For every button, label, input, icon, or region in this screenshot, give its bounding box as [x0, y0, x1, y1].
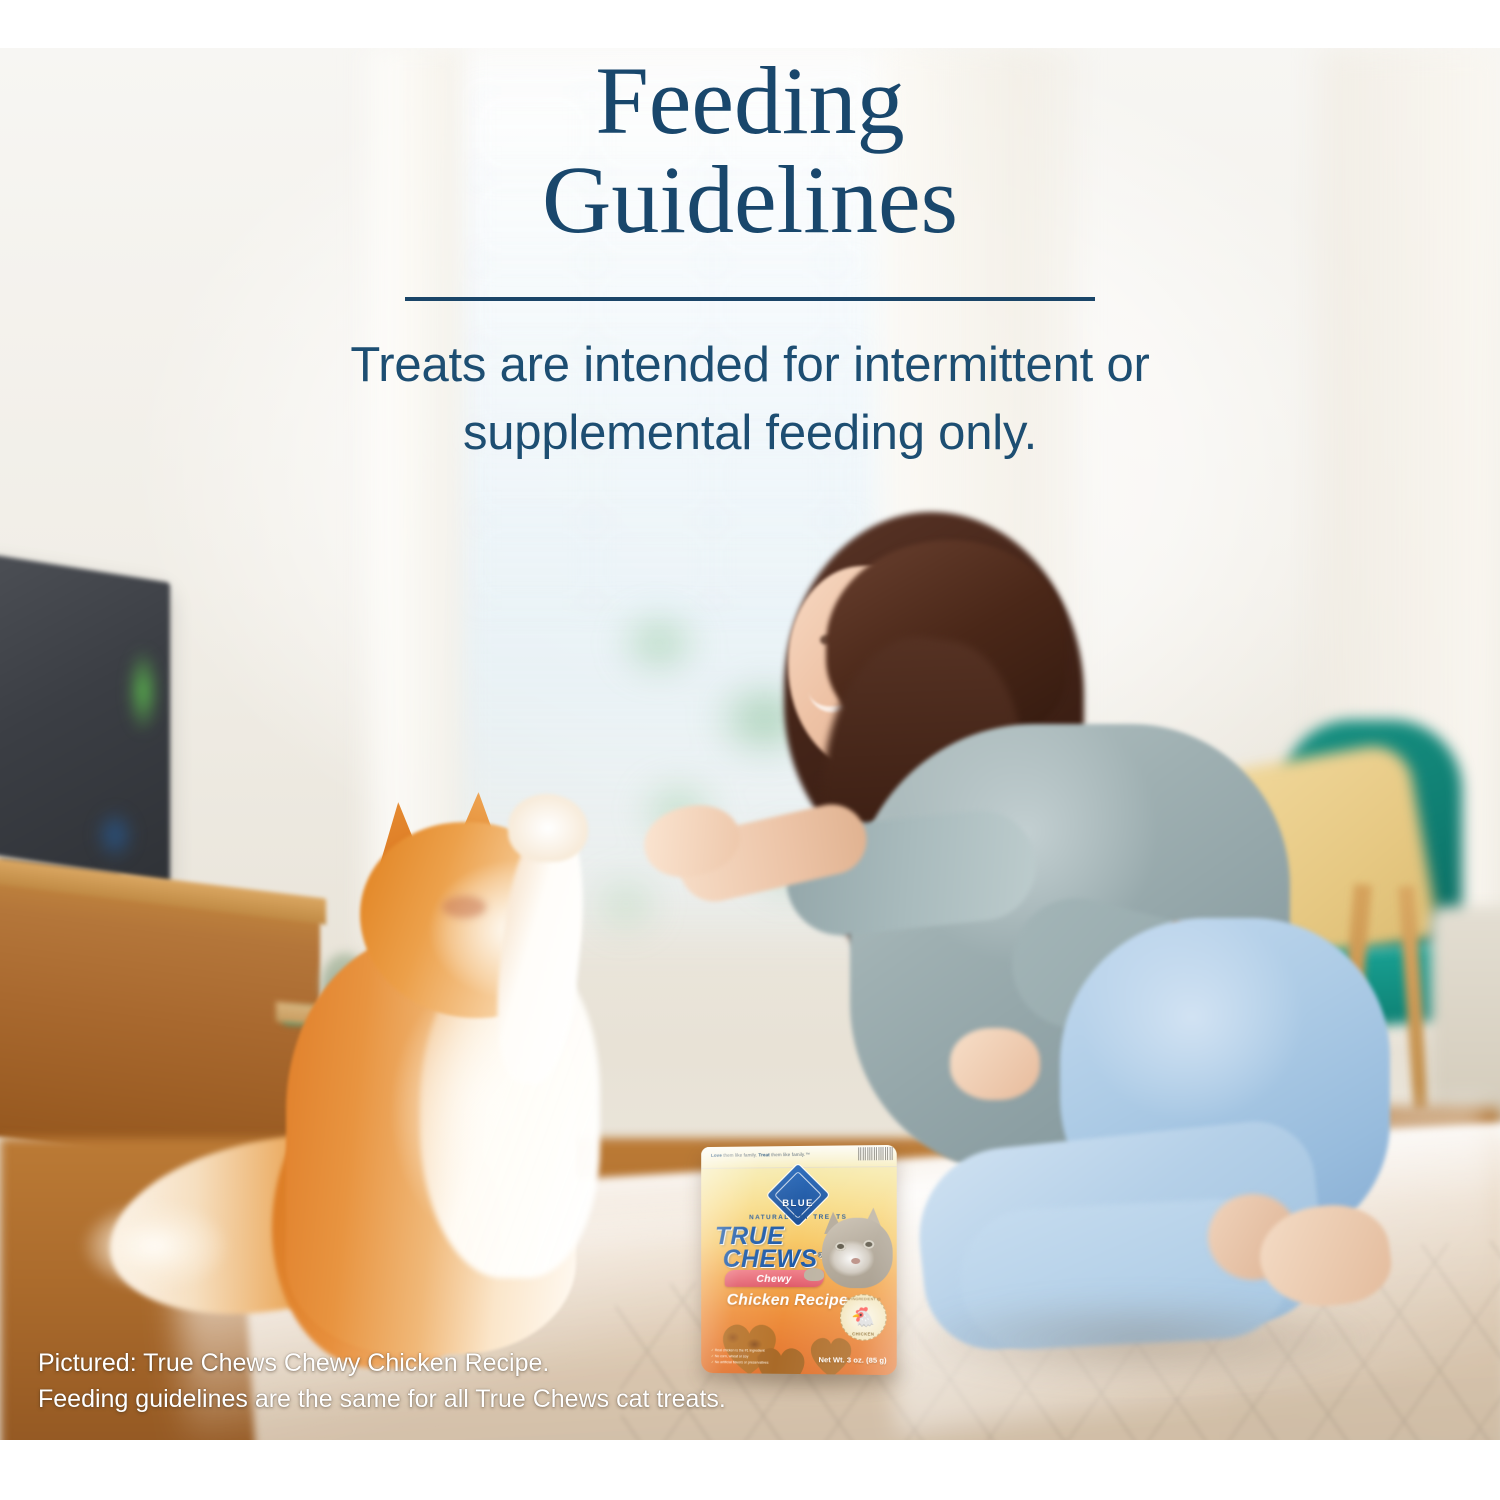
package-cat-paw: [804, 1268, 824, 1281]
caption-line-2: Feeding guidelines are the same for all …: [38, 1382, 726, 1418]
subtitle-line-1: Treats are intended for intermittent or: [150, 332, 1350, 400]
heart-window-small: [806, 1332, 856, 1375]
flavor-name: Chicken Recipe: [713, 1292, 862, 1311]
tv-screen-green-glow: [128, 648, 158, 734]
title-divider: [405, 297, 1095, 301]
product-package: Love them like family. Treat them like f…: [701, 1145, 897, 1375]
package-cat-eye-right: [863, 1240, 874, 1249]
cat-muzzle: [442, 896, 486, 918]
page-title: Feeding Guidelines: [0, 52, 1500, 250]
tagline-treat: Treat: [758, 1152, 769, 1157]
package-cat-eye-left: [835, 1242, 846, 1251]
cat-tail-tip: [80, 1200, 230, 1292]
page-title-line-2: Guidelines: [0, 151, 1500, 250]
page-title-line-1: Feeding: [0, 52, 1500, 151]
cat-paw: [508, 794, 588, 862]
texture-label: Chewy: [756, 1272, 792, 1284]
package-cat-photo: [822, 1218, 893, 1289]
tagline-mid: them like family.: [722, 1152, 759, 1157]
chicken-icon: 🐔: [851, 1308, 875, 1327]
badge-bottom-label: CHICKEN: [841, 1331, 885, 1336]
tagline-end: them like family.™: [770, 1152, 810, 1157]
brand-name: BLUE: [782, 1198, 813, 1209]
net-weight: Net Wt. 3 oz. (85 g): [818, 1355, 886, 1365]
chicken-badge: #1 INGREDIENT IS 🐔 CHICKEN: [840, 1294, 886, 1341]
caption-line-1: Pictured: True Chews Chewy Chicken Recip…: [38, 1346, 726, 1382]
bottom-white-band: [0, 1440, 1500, 1500]
hand-right: [950, 1028, 1040, 1100]
tagline-love: Love: [711, 1153, 722, 1158]
body-shadow: [900, 1294, 1380, 1384]
photo-caption: Pictured: True Chews Chewy Chicken Recip…: [38, 1346, 726, 1417]
badge-top-label: #1 INGREDIENT IS: [841, 1297, 885, 1301]
header-block: Feeding Guidelines: [0, 0, 1500, 300]
feeding-guidelines-page: Love them like family. Treat them like f…: [0, 0, 1500, 1500]
package-cat-nose: [851, 1258, 860, 1264]
subtitle-line-2: supplemental feeding only.: [150, 400, 1350, 468]
product-name-text: CHEWS: [723, 1245, 818, 1273]
page-subtitle: Treats are intended for intermittent or …: [150, 332, 1350, 467]
